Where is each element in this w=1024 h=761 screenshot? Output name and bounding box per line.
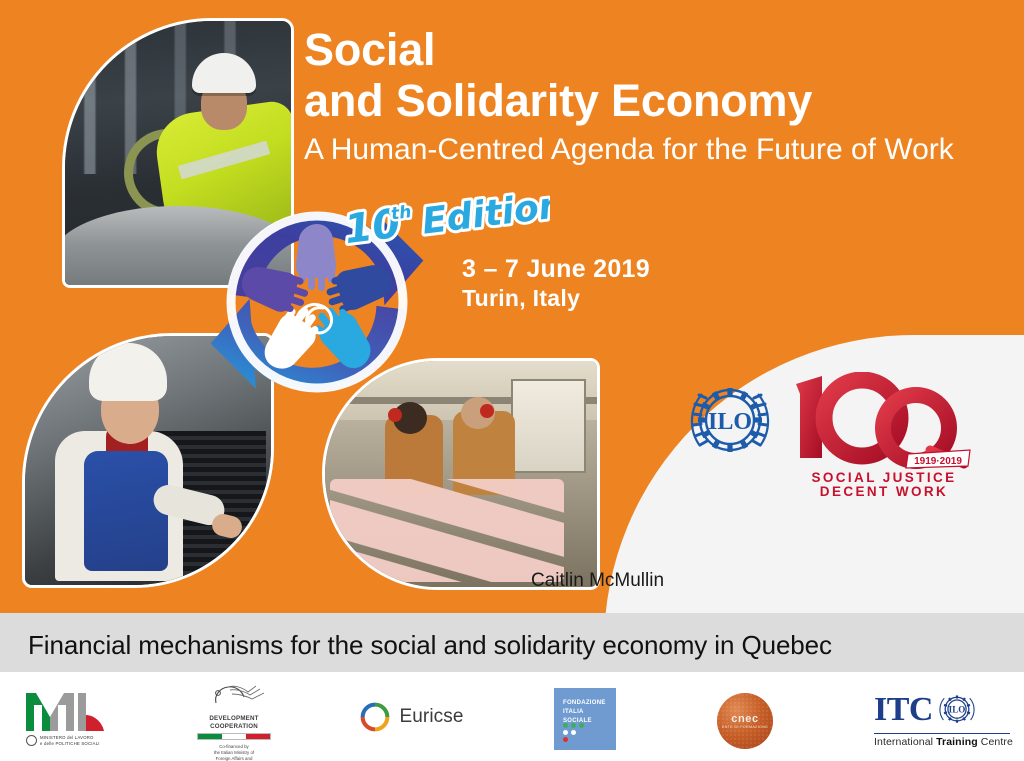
euricse-ring-icon — [360, 702, 390, 732]
republic-seal-icon — [26, 735, 37, 746]
itc-sub-suffix: Centre — [978, 736, 1013, 748]
itc-subtitle: International Training Centre — [874, 736, 1010, 748]
footer-logo-strip — [0, 672, 1024, 761]
edition-ordinal: th — [390, 202, 413, 224]
ilo-wordmark: ILO — [708, 409, 752, 435]
presentation-slide: Social and Solidarity Economy A Human-Ce… — [0, 0, 1024, 761]
dev-title-line2: COOPERATION — [186, 723, 282, 731]
wood-photo-window — [511, 379, 586, 473]
ilo-emblem-logo: ILO — [682, 374, 778, 470]
page-subtitle: A Human-Centred Agenda for the Future of… — [304, 133, 1014, 168]
fis-line2: ITALIA — [563, 708, 606, 717]
centenary-years-ribbon: 1919·2019 — [906, 450, 970, 468]
presenter-name: Caitlin McMullin — [531, 570, 664, 592]
fis-dot-pattern — [563, 723, 584, 744]
itc-divider — [874, 733, 1010, 735]
itc-ilo-emblem-icon: ILO — [937, 690, 977, 730]
itc-sub-bold: Training — [936, 736, 978, 748]
cnec-logo: cnec ENTE DI FORMAZIONE — [716, 692, 774, 750]
ministero-line2: e delle POLITICHE SOCIALI — [40, 741, 100, 746]
baker-photo-blue-apron — [84, 451, 168, 571]
itc-sub-prefix: International — [874, 736, 936, 748]
italian-flag-bar — [197, 733, 271, 740]
page-title: Social and Solidarity Economy — [304, 24, 1004, 127]
fis-line1: FONDAZIONE — [563, 699, 606, 708]
edition-badge: 10 10 th th Edition Edition — [340, 189, 550, 247]
itc-ilo-logo: ITC — [872, 690, 1012, 748]
cnec-subtext: ENTE DI FORMAZIONE — [717, 725, 773, 729]
ministero-line1: MINISTERO del LAVORO — [40, 735, 94, 740]
ilo-centenary-logo: 1919·2019 SOCIAL JUSTICE DECENT WORK — [788, 372, 974, 497]
dev-note-line3: Foreign Affairs and — [186, 756, 282, 761]
centenary-tagline-line1: SOCIAL JUSTICE — [811, 470, 956, 485]
event-dates: 3 – 7 June 2019 — [462, 255, 650, 284]
slide-title: Financial mechanisms for the social and … — [28, 630, 832, 661]
fis-title: FONDAZIONE ITALIA SOCIALE — [563, 699, 606, 726]
dev-title-line1: DEVELOPMENT — [186, 715, 282, 723]
wood-photo-worker-right-earmuff — [480, 404, 494, 418]
page-title-line2: and Solidarity Economy — [304, 75, 1004, 126]
development-cooperation-title: DEVELOPMENT COOPERATION — [186, 715, 282, 731]
wood-photo-timber-frames — [330, 479, 564, 583]
ministero-lavoro-logo: MINISTERO del LAVORO e delle POLITICHE S… — [18, 684, 114, 752]
dove-icon — [186, 683, 282, 709]
edition-word: Edition — [420, 189, 550, 243]
svg-text:ILO: ILO — [949, 704, 966, 714]
fondazione-italia-sociale-logo: FONDAZIONE ITALIA SOCIALE — [552, 686, 618, 752]
itc-letters: ITC — [874, 693, 933, 727]
event-location: Turin, Italy — [462, 285, 580, 312]
euricse-wordmark: Euricse — [399, 706, 463, 728]
hero-white-bottom-fill — [690, 560, 1024, 620]
centenary-tagline-line2: DECENT WORK — [820, 484, 948, 497]
cnec-wordmark: cnec — [717, 713, 773, 725]
development-cooperation-logo: DEVELOPMENT COOPERATION Co-financed by t… — [185, 682, 283, 754]
development-cooperation-note: Co-financed by the Italian Ministry of F… — [186, 744, 282, 761]
page-title-line1: Social — [304, 24, 1004, 75]
centenary-years: 1919·2019 — [914, 456, 962, 467]
euricse-logo: Euricse — [352, 697, 472, 737]
ministero-lavoro-subtitle: MINISTERO del LAVORO e delle POLITICHE S… — [26, 735, 100, 746]
